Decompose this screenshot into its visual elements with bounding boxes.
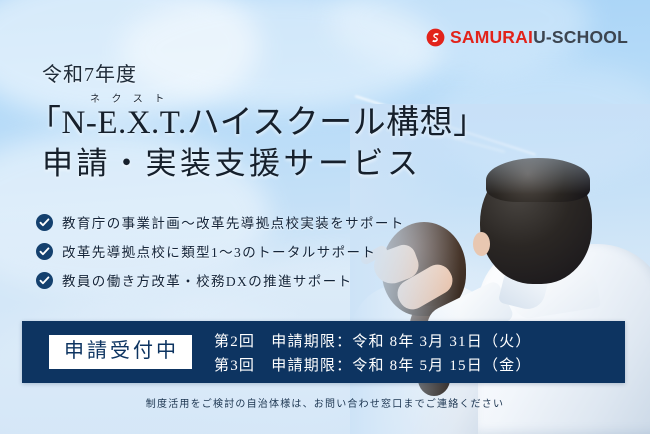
deadline-list: 第2回 申請期限：令和 8年 3月 31日（火） 第3回 申請期限：令和 8年 … [214,330,532,375]
check-circle-icon [36,214,53,231]
footer-note: 制度活用をご検討の自治体様は、お問い合わせ窓口までご連絡ください [0,395,650,410]
logo-primary-text: SAMURAI [450,27,533,47]
samurai-swirl-icon [426,28,445,47]
list-item: 改革先導拠点校に類型1〜3のトータルサポート [36,241,405,261]
deadline-banner: 申請受付中 第2回 申請期限：令和 8年 3月 31日（火） 第3回 申請期限：… [22,321,625,383]
list-item: 教員の働き方改革・校務DXの推進サポート [36,270,405,290]
ruby-row: ネクスト [28,92,487,106]
headline-line-2: 申請・実装支援サービス [42,147,487,181]
era-label: 令和7年度 [42,58,137,87]
list-item-label: 教員の働き方改革・校務DXの推進サポート [62,270,353,290]
headline-block: ネクスト 「N-E.X.T.ハイスクール構想」 申請・実装支援サービス [28,92,487,181]
check-circle-icon [36,243,53,260]
check-circle-icon [36,272,53,289]
list-item-label: 改革先導拠点校に類型1〜3のトータルサポート [62,241,376,261]
headline-line-1: 「N-E.X.T.ハイスクール構想」 [28,106,487,142]
boy-ear [473,232,490,256]
feature-list: 教育庁の事業計画〜改革先導拠点校実装をサポート 改革先導拠点校に類型1〜3のトー… [36,212,405,290]
list-item: 教育庁の事業計画〜改革先導拠点校実装をサポート [36,212,405,232]
list-item-label: 教育庁の事業計画〜改革先導拠点校実装をサポート [62,212,405,232]
deadline-line: 第2回 申請期限：令和 8年 3月 31日（火） [214,330,532,351]
ruby-text: ネクスト [90,90,176,105]
promo-banner: SAMURAIU-SCHOOL 令和7年度 ネクスト 「N-E.X.T.ハイスク… [0,0,650,434]
logo-secondary-text: U-SCHOOL [533,27,628,47]
deadline-line: 第3回 申請期限：令和 8年 5月 15日（金） [214,354,532,375]
status-badge: 申請受付中 [49,335,192,369]
brand-logo[interactable]: SAMURAIU-SCHOOL [426,28,628,47]
